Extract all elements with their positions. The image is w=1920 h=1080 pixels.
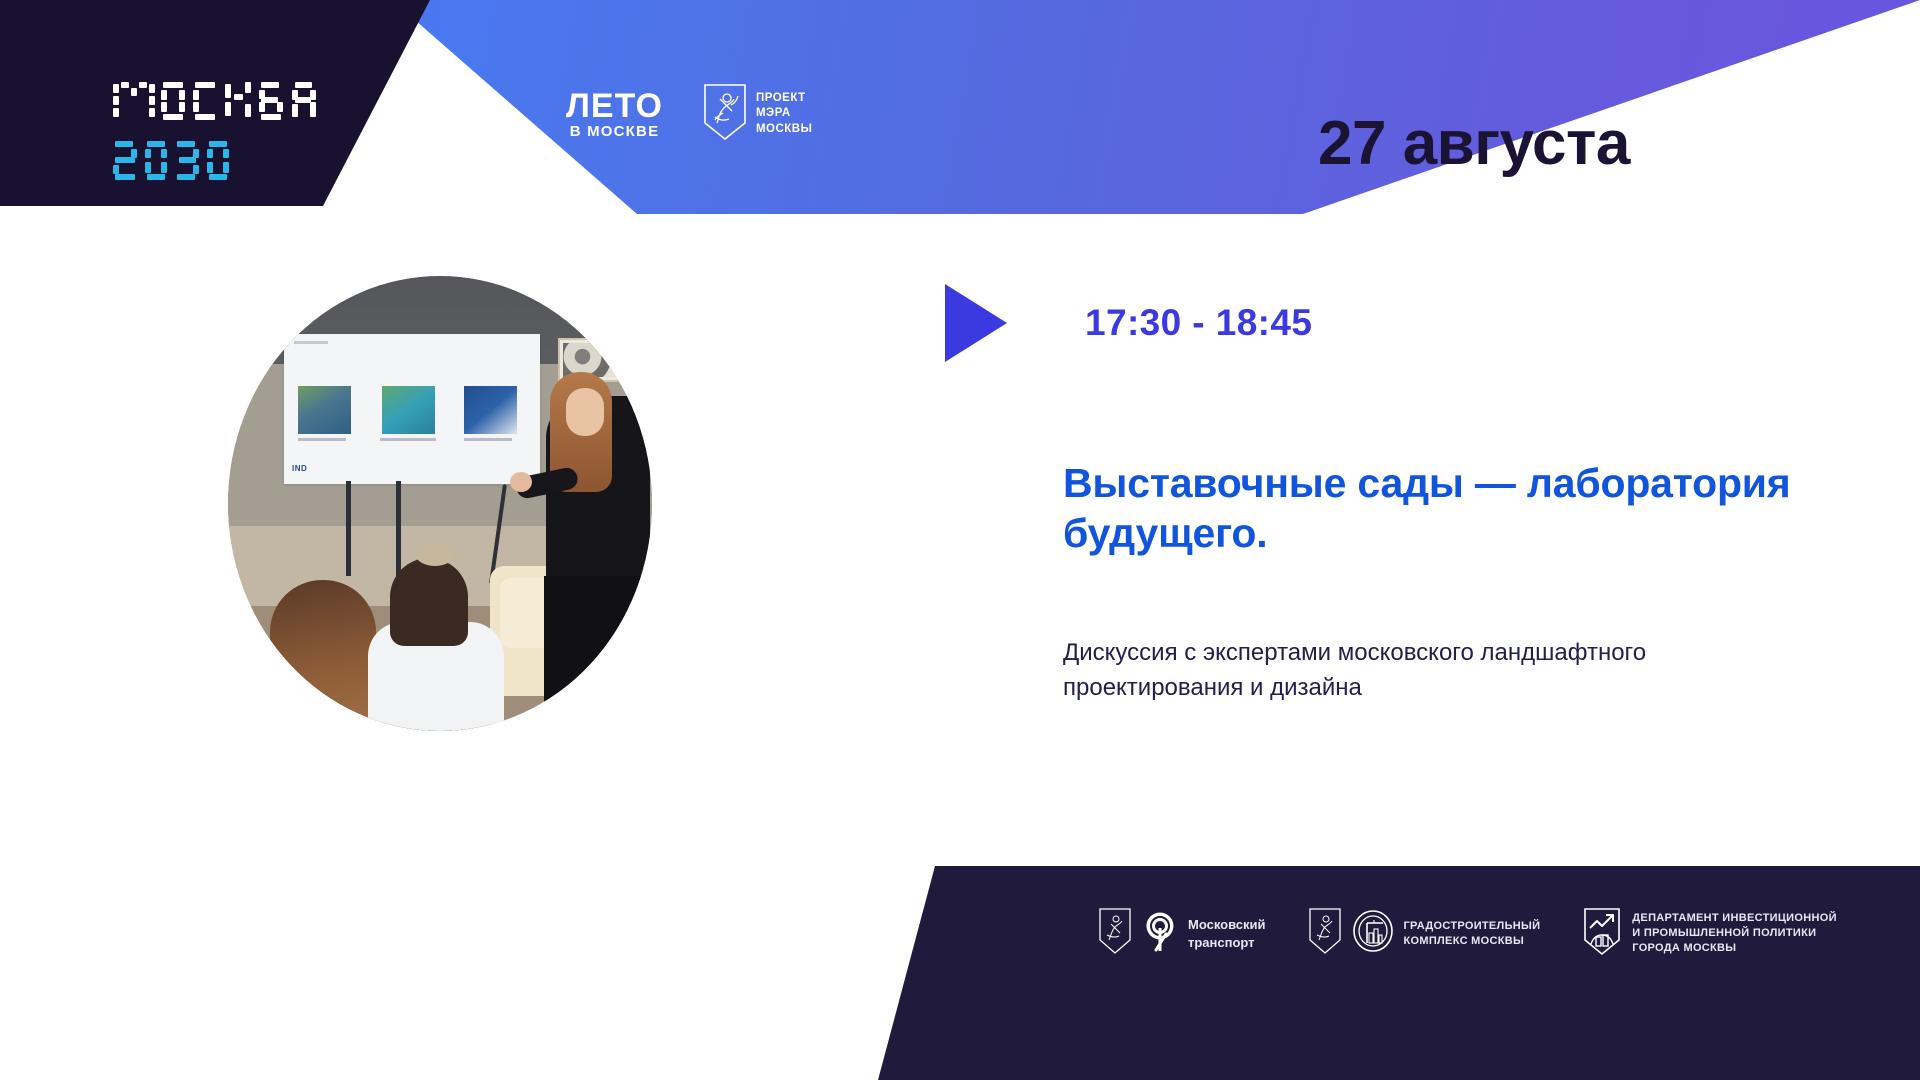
transport-pin-icon (1142, 910, 1178, 957)
footer-dark-shape (0, 866, 1920, 1080)
footer-logo-moskovskiy-transport: Московский транспорт (1098, 907, 1266, 960)
slide-thumb-river-1 (298, 386, 351, 434)
tsm-line1: ТА (440, 89, 526, 103)
dipp-line1: ДЕПАРТАМЕНТ ИНВЕСТИЦИОННОЙ (1632, 911, 1836, 926)
play-triangle-icon (945, 284, 1007, 362)
tsm-line2: САМАЯ (440, 103, 526, 117)
dipp-line3: ГОРОДА МОСКВЫ (1632, 941, 1836, 956)
photo-speaker-face (566, 388, 604, 436)
proj-line3: МОСКВЫ (756, 122, 812, 138)
investment-shield-chart-icon (1582, 906, 1622, 961)
photo-audience-1-hair (270, 580, 376, 731)
photo-audience-2-hairclip (416, 544, 454, 566)
mt-line1: Московский (1188, 916, 1266, 934)
proj-line2: МЭРА (756, 106, 812, 122)
partner-logo-leto-v-moskve: ЛЕТО В МОСКВЕ (566, 89, 663, 140)
event-photo: IND (228, 276, 652, 731)
moscow-coat-of-arms-icon (1098, 907, 1132, 960)
leto-line1: ЛЕТО (566, 89, 663, 124)
header-band: ТА САМАЯ МОСКВА ЛЕТО В МОСКВЕ (0, 0, 1920, 260)
proj-line1: ПРОЕКТ (756, 91, 812, 107)
construction-crane-circle-icon (1352, 909, 1394, 958)
mt-line2: транспорт (1188, 934, 1266, 952)
event-date: 27 августа (1318, 108, 1630, 179)
event-time-row: 17:30 - 18:45 (945, 284, 1312, 362)
event-time: 17:30 - 18:45 (1085, 302, 1312, 344)
event-description: Дискуссия с экспертами московского ландш… (1063, 635, 1723, 705)
footer-partner-logos: Московский транспорт (1098, 906, 1837, 961)
gk-line2: КОМПЛЕКС МОСКВЫ (1404, 934, 1541, 949)
gk-line1: ГРАДОСТРОИТЕЛЬНЫЙ (1404, 919, 1541, 934)
moscow-coat-of-arms-icon (703, 83, 747, 146)
brand-line-2030 (113, 139, 323, 188)
footer-band: Московский транспорт (0, 866, 1920, 1080)
photo-presentation-screen: IND (284, 334, 540, 484)
footer-logo-departament-investitsionnoy-politiki: ДЕПАРТАМЕНТ ИНВЕСТИЦИОННОЙ И ПРОМЫШЛЕННО… (1582, 906, 1836, 961)
partner-logo-proekt-mera-moskvy: ПРОЕКТ МЭРА МОСКВЫ (703, 83, 812, 146)
tsm-line3: МОСКВА (440, 118, 526, 139)
dipp-line2: И ПРОМЫШЛЕННОЙ ПОЛИТИКИ (1632, 926, 1836, 941)
photo-audience-2-hair (390, 558, 468, 646)
event-title: Выставочные сады — лаборатория будущего. (1063, 458, 1803, 558)
photo-speaker-skirt (544, 576, 652, 731)
slide-thumb-river-2 (382, 386, 435, 434)
footer-logo-gradostroitelnyy-kompleks: ГРАДОСТРОИТЕЛЬНЫЙ КОМПЛЕКС МОСКВЫ (1308, 907, 1541, 960)
moskva-2030-logo (113, 80, 323, 188)
photo-speaker-hand (510, 472, 532, 492)
slide-thumb-river-3 (464, 386, 517, 434)
brand-line-moskva (113, 80, 323, 131)
moscow-coat-of-arms-icon (1308, 907, 1342, 960)
leto-line2: В МОСКВЕ (566, 124, 663, 139)
photo-screen-stand-right (396, 481, 401, 576)
header-partner-logos: ТА САМАЯ МОСКВА ЛЕТО В МОСКВЕ (440, 74, 812, 154)
photo-screen-stand-left (346, 481, 351, 576)
partner-logo-ta-samaya-moskva: ТА САМАЯ МОСКВА (440, 89, 526, 139)
